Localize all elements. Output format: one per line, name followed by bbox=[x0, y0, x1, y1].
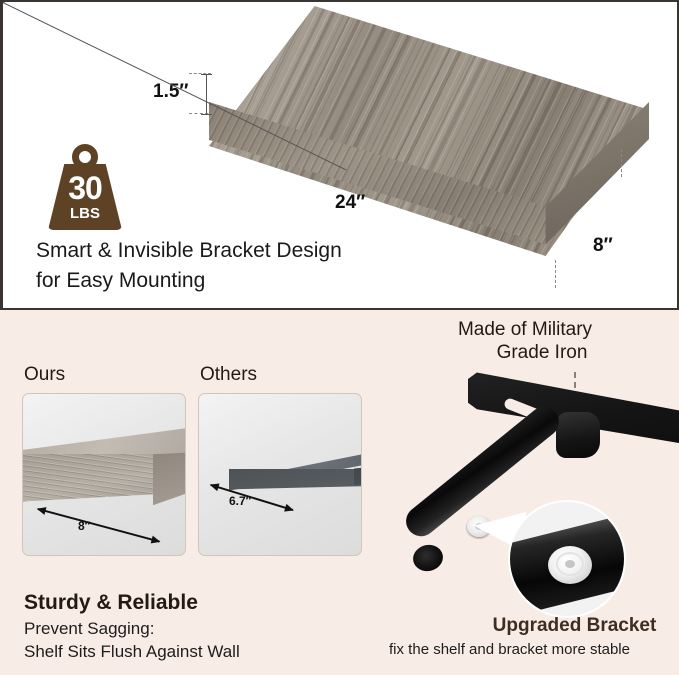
ours-shelf-end-face bbox=[153, 452, 186, 528]
military-grade-caption: Made of Military Grade Iron bbox=[370, 318, 679, 364]
weight-capacity-badge-icon: 30 LBS bbox=[48, 144, 122, 230]
military-caption-line-1: Made of Military bbox=[370, 318, 679, 341]
ours-depth-arrow bbox=[37, 508, 159, 543]
ours-depth-label: 8″ bbox=[78, 519, 90, 533]
upgraded-bracket-subtitle: fix the shelf and bracket more stable bbox=[340, 641, 679, 658]
hero-headline: Smart & Invisible Bracket Design for Eas… bbox=[36, 236, 436, 296]
comparison-card-others: 6.7″ bbox=[198, 393, 362, 556]
comparison-label-others: Others bbox=[200, 364, 257, 386]
depth-extension-line-bottom bbox=[555, 260, 556, 288]
others-shelf-end-face bbox=[354, 464, 362, 520]
magnified-screw-detail bbox=[508, 500, 626, 618]
weight-badge-unit: LBS bbox=[48, 206, 122, 221]
sturdy-heading: Sturdy & Reliable bbox=[24, 591, 354, 615]
military-caption-line-2: Grade Iron bbox=[370, 341, 679, 364]
depth-dimension-label: 8″ bbox=[593, 235, 613, 257]
thickness-tick-top bbox=[201, 74, 212, 75]
depth-extension-line-top bbox=[621, 149, 622, 177]
thickness-dimension-line bbox=[206, 74, 207, 114]
length-dimension-label: 24″ bbox=[335, 192, 365, 214]
upgraded-bracket-title: Upgraded Bracket bbox=[470, 615, 679, 637]
comparison-label-ours: Ours bbox=[24, 364, 65, 386]
sturdy-reliable-text-block: Sturdy & Reliable Prevent Sagging: Shelf… bbox=[24, 591, 354, 663]
thickness-tick-bottom bbox=[201, 114, 212, 115]
hero-headline-line-1: Smart & Invisible Bracket Design bbox=[36, 236, 436, 266]
sturdy-subtext-line-2: Shelf Sits Flush Against Wall bbox=[24, 641, 354, 663]
comparison-card-ours: 8″ bbox=[22, 393, 186, 556]
sturdy-subtext-line-1: Prevent Sagging: bbox=[24, 618, 354, 640]
hero-headline-line-2: for Easy Mounting bbox=[36, 266, 436, 296]
product-hero-panel: 1.5″ 24″ 8″ 30 LBS Smart & Invisible Bra… bbox=[0, 0, 679, 310]
others-depth-label: 6.7″ bbox=[229, 494, 251, 508]
bracket-joint bbox=[556, 412, 600, 458]
magnified-screw-center bbox=[565, 560, 575, 568]
weight-badge-value: 30 bbox=[48, 172, 122, 204]
